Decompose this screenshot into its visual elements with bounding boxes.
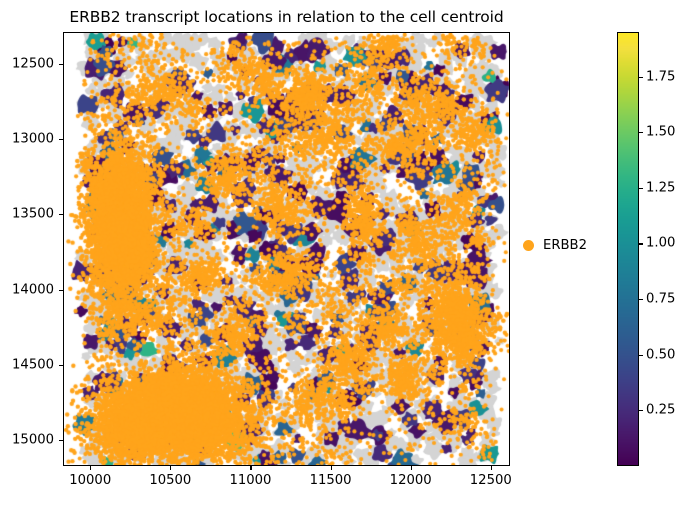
x-tick-mark (331, 466, 332, 470)
x-tick-label: 11000 (229, 473, 271, 488)
x-tick-label: 11500 (310, 473, 352, 488)
colorbar-tick-label: 0.75 (646, 292, 675, 307)
scatter-plot-canvas[interactable] (64, 33, 510, 466)
colorbar-gradient (618, 33, 638, 465)
y-tick-label: 14000 (0, 282, 54, 297)
colorbar-tick-mark (639, 299, 643, 300)
x-tick-label: 10500 (149, 473, 191, 488)
colorbar-tick-mark (639, 188, 643, 189)
x-tick-mark (250, 466, 251, 470)
colorbar-tick-label: 1.50 (646, 125, 675, 140)
y-tick-label: 14500 (0, 358, 54, 373)
colorbar-tick-label: 0.50 (646, 347, 675, 362)
x-tick-label: 12500 (470, 473, 512, 488)
y-tick-mark (59, 365, 63, 366)
x-tick-label: 12000 (390, 473, 432, 488)
matplotlib-figure: ERBB2 transcript locations in relation t… (0, 0, 684, 511)
y-tick-mark (59, 139, 63, 140)
y-tick-label: 13500 (0, 207, 54, 222)
colorbar-tick-mark (639, 243, 643, 244)
x-tick-label: 10000 (69, 473, 111, 488)
legend-marker-erbb2 (523, 240, 534, 251)
legend-label-erbb2: ERBB2 (543, 238, 587, 253)
x-tick-mark (90, 466, 91, 470)
y-tick-mark (59, 64, 63, 65)
page-title: ERBB2 transcript locations in relation t… (63, 8, 510, 26)
y-tick-label: 15000 (0, 433, 54, 448)
legend: ERBB2 (523, 238, 587, 253)
y-tick-label: 12500 (0, 56, 54, 71)
colorbar-tick-mark (639, 77, 643, 78)
x-tick-mark (411, 466, 412, 470)
scatter-plot-axes[interactable] (63, 32, 510, 466)
colorbar-tick-label: 1.25 (646, 180, 675, 195)
colorbar-tick-label: 1.75 (646, 69, 675, 84)
colorbar-tick-label: 0.25 (646, 403, 675, 418)
colorbar-tick-mark (639, 410, 643, 411)
colorbar-tick-mark (639, 355, 643, 356)
colorbar-tick-label: 1.00 (646, 236, 675, 251)
y-tick-mark (59, 214, 63, 215)
y-tick-mark (59, 290, 63, 291)
x-tick-mark (491, 466, 492, 470)
x-tick-mark (170, 466, 171, 470)
y-tick-label: 13000 (0, 131, 54, 146)
colorbar[interactable] (617, 32, 639, 466)
y-tick-mark (59, 440, 63, 441)
colorbar-tick-mark (639, 132, 643, 133)
